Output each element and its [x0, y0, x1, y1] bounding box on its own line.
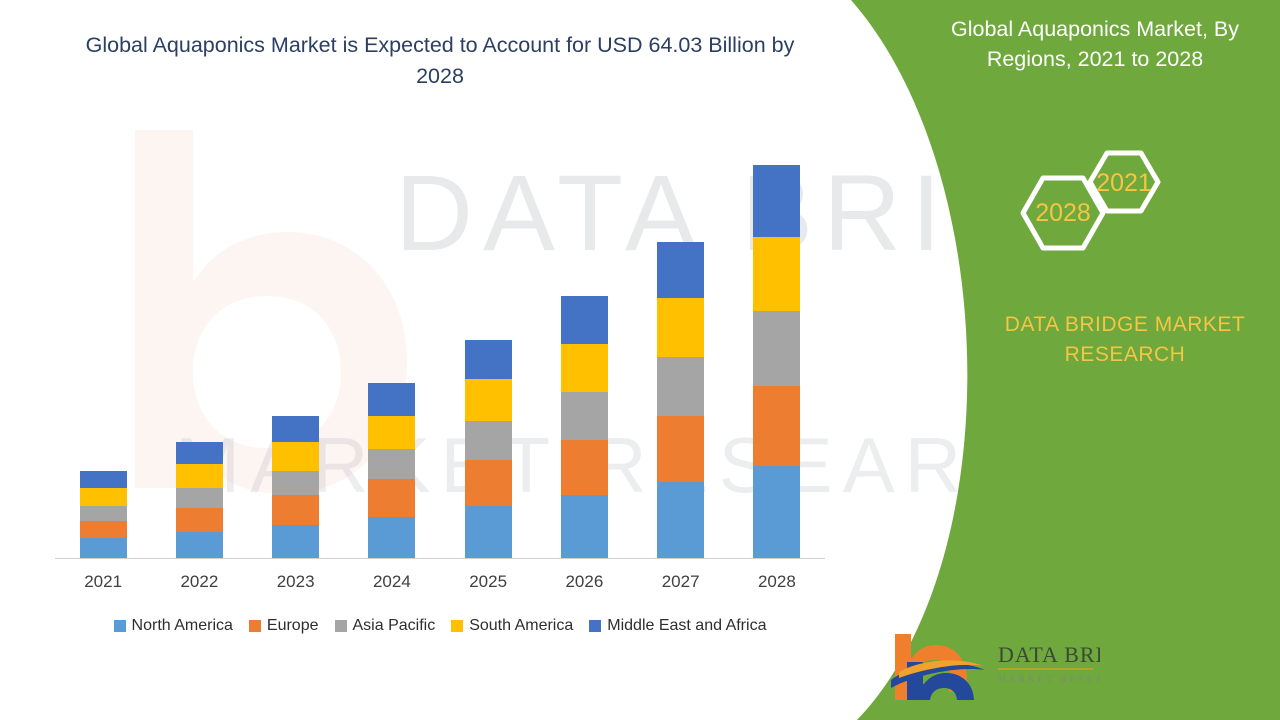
bar-segment[interactable]: [272, 495, 319, 526]
bar-segment[interactable]: [176, 464, 223, 488]
bar-group[interactable]: [344, 140, 440, 558]
legend-swatch-icon: [451, 620, 463, 632]
bar-segment[interactable]: [368, 479, 415, 516]
bar-segment[interactable]: [753, 237, 800, 311]
x-axis-line: [55, 558, 825, 559]
bar-segment[interactable]: [176, 488, 223, 508]
stacked-bar[interactable]: [80, 471, 127, 558]
brand-name-line1: DATA BRIDGE MARKET: [965, 310, 1280, 340]
bar-segment[interactable]: [657, 357, 704, 416]
legend-item[interactable]: Middle East and Africa: [589, 617, 766, 635]
bar-segment[interactable]: [80, 471, 127, 488]
stacked-bar[interactable]: [368, 383, 415, 558]
bar-segment[interactable]: [368, 383, 415, 416]
legend-label: South America: [469, 617, 573, 635]
chart-legend: North AmericaEuropeAsia PacificSouth Ame…: [55, 617, 825, 635]
x-axis-tick-label: 2022: [151, 572, 247, 592]
bar-group[interactable]: [440, 140, 536, 558]
logo-tagline: MARKET RESEARCH: [998, 674, 1100, 684]
bar-group[interactable]: [633, 140, 729, 558]
bar-series-container: [55, 140, 825, 558]
brand-name: DATA BRIDGE MARKET RESEARCH: [965, 310, 1280, 370]
bar-segment[interactable]: [753, 165, 800, 237]
bar-group[interactable]: [248, 140, 344, 558]
bar-segment[interactable]: [272, 525, 319, 558]
legend-swatch-icon: [114, 620, 126, 632]
bar-segment[interactable]: [80, 538, 127, 558]
bar-group[interactable]: [55, 140, 151, 558]
hexagon-label-2021: 2021: [1096, 169, 1152, 197]
brand-name-line2: RESEARCH: [965, 340, 1280, 370]
logo-wordmark: DATA BRIDGE: [998, 642, 1100, 667]
bar-segment[interactable]: [561, 440, 608, 495]
x-axis-tick-label: 2024: [344, 572, 440, 592]
stacked-bar[interactable]: [561, 296, 608, 558]
x-axis-tick-label: 2026: [536, 572, 632, 592]
bar-segment[interactable]: [561, 392, 608, 440]
bar-segment[interactable]: [272, 442, 319, 470]
bar-segment[interactable]: [272, 471, 319, 495]
infographic-canvas: DATA BRIDGE MARKET RESEARCH Global Aquap…: [0, 0, 1280, 720]
bar-segment[interactable]: [272, 416, 319, 442]
bar-segment[interactable]: [657, 298, 704, 357]
stacked-bar[interactable]: [753, 165, 800, 558]
x-axis-tick-label: 2027: [633, 572, 729, 592]
bar-segment[interactable]: [80, 488, 127, 505]
legend-item[interactable]: North America: [114, 617, 233, 635]
legend-label: Asia Pacific: [353, 617, 436, 635]
x-axis-tick-label: 2028: [729, 572, 825, 592]
bar-segment[interactable]: [176, 442, 223, 464]
bar-segment[interactable]: [657, 482, 704, 558]
legend-swatch-icon: [249, 620, 261, 632]
bar-group[interactable]: [536, 140, 632, 558]
bar-segment[interactable]: [368, 416, 415, 449]
bar-group[interactable]: [151, 140, 247, 558]
bar-segment[interactable]: [753, 466, 800, 558]
bar-segment[interactable]: [753, 311, 800, 385]
legend-swatch-icon: [335, 620, 347, 632]
bar-segment[interactable]: [561, 296, 608, 344]
legend-label: North America: [132, 617, 233, 635]
hexagon-label-2028: 2028: [1035, 199, 1091, 227]
bar-segment[interactable]: [465, 421, 512, 460]
stacked-bar[interactable]: [176, 442, 223, 558]
bar-segment[interactable]: [80, 521, 127, 538]
bar-segment[interactable]: [657, 416, 704, 481]
data-bridge-logo: DATA BRIDGE MARKET RESEARCH: [885, 630, 1100, 700]
legend-item[interactable]: Europe: [249, 617, 319, 635]
legend-item[interactable]: Asia Pacific: [335, 617, 436, 635]
bar-segment[interactable]: [368, 517, 415, 558]
stacked-bar[interactable]: [465, 340, 512, 558]
bar-segment[interactable]: [368, 449, 415, 480]
bar-segment[interactable]: [465, 379, 512, 420]
hexagon-pair: 2028 2021: [985, 145, 1180, 275]
bar-segment[interactable]: [80, 506, 127, 521]
bar-group[interactable]: [729, 140, 825, 558]
x-axis-tick-labels: 20212022202320242025202620272028: [55, 572, 825, 592]
bar-segment[interactable]: [465, 340, 512, 379]
bar-segment[interactable]: [561, 344, 608, 392]
bar-segment[interactable]: [561, 495, 608, 558]
bar-segment[interactable]: [465, 460, 512, 506]
x-axis-tick-label: 2021: [55, 572, 151, 592]
x-axis-tick-label: 2025: [440, 572, 536, 592]
legend-swatch-icon: [589, 620, 601, 632]
bar-segment[interactable]: [657, 242, 704, 299]
stacked-bar[interactable]: [657, 242, 704, 558]
legend-label: Middle East and Africa: [607, 617, 766, 635]
legend-label: Europe: [267, 617, 319, 635]
x-axis-tick-label: 2023: [248, 572, 344, 592]
chart-plot-area: [55, 140, 825, 559]
bar-segment[interactable]: [465, 506, 512, 558]
bar-segment[interactable]: [176, 508, 223, 532]
stacked-bar[interactable]: [272, 416, 319, 558]
chart-title: Global Aquaponics Market is Expected to …: [60, 30, 820, 92]
bar-segment[interactable]: [753, 386, 800, 467]
legend-item[interactable]: South America: [451, 617, 573, 635]
panel-title: Global Aquaponics Market, By Regions, 20…: [920, 14, 1270, 74]
bar-segment[interactable]: [176, 532, 223, 558]
